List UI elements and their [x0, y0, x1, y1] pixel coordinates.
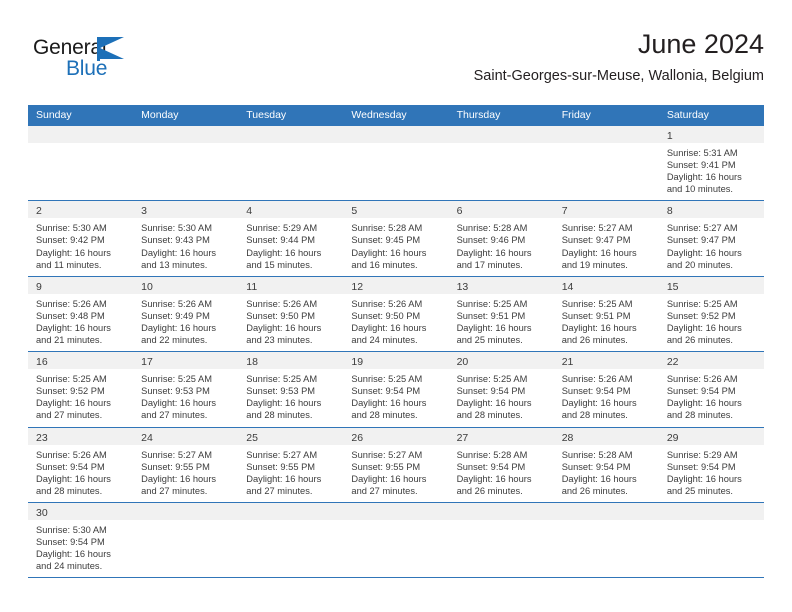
sunset-text: Sunset: 9:54 PM	[351, 385, 442, 397]
weekday-header-thursday: Thursday	[449, 105, 554, 126]
daylight-text-line2: and 15 minutes.	[246, 259, 337, 271]
sunrise-text: Sunrise: 5:28 AM	[562, 449, 653, 461]
daylight-text-line2: and 26 minutes.	[457, 485, 548, 497]
day-detail: Sunrise: 5:26 AMSunset: 9:50 PMDaylight:…	[238, 294, 343, 351]
day-cell-empty	[554, 126, 659, 200]
day-number-band: 13	[449, 277, 554, 294]
day-cell-empty	[343, 503, 448, 577]
sunset-text: Sunset: 9:55 PM	[141, 461, 232, 473]
day-detail: Sunrise: 5:26 AMSunset: 9:48 PMDaylight:…	[28, 294, 133, 351]
day-detail	[28, 143, 133, 199]
day-number: 3	[141, 205, 147, 217]
daylight-text-line1: Daylight: 16 hours	[667, 322, 758, 334]
day-cell-14[interactable]: 14Sunrise: 5:25 AMSunset: 9:51 PMDayligh…	[554, 277, 659, 351]
day-number-band: 27	[449, 428, 554, 445]
day-cell-empty	[238, 126, 343, 200]
daylight-text-line1: Daylight: 16 hours	[457, 247, 548, 259]
sunrise-text: Sunrise: 5:26 AM	[36, 298, 127, 310]
daylight-text-line2: and 25 minutes.	[457, 334, 548, 346]
day-number-band: 20	[449, 352, 554, 369]
day-detail	[343, 520, 448, 576]
sunrise-text: Sunrise: 5:30 AM	[36, 222, 127, 234]
day-number-band: 18	[238, 352, 343, 369]
day-cell-23[interactable]: 23Sunrise: 5:26 AMSunset: 9:54 PMDayligh…	[28, 428, 133, 502]
sunrise-text: Sunrise: 5:25 AM	[141, 373, 232, 385]
day-cell-empty	[554, 503, 659, 577]
day-detail: Sunrise: 5:28 AMSunset: 9:54 PMDaylight:…	[449, 445, 554, 502]
day-cell-empty	[343, 126, 448, 200]
day-number-band: 14	[554, 277, 659, 294]
day-cell-10[interactable]: 10Sunrise: 5:26 AMSunset: 9:49 PMDayligh…	[133, 277, 238, 351]
day-number: 2	[36, 205, 42, 217]
daylight-text-line1: Daylight: 16 hours	[36, 247, 127, 259]
day-detail: Sunrise: 5:25 AMSunset: 9:51 PMDaylight:…	[449, 294, 554, 351]
daylight-text-line1: Daylight: 16 hours	[36, 322, 127, 334]
day-detail	[554, 143, 659, 199]
sunrise-text: Sunrise: 5:26 AM	[351, 298, 442, 310]
day-number-band	[554, 126, 659, 143]
sunrise-text: Sunrise: 5:27 AM	[667, 222, 758, 234]
daylight-text-line1: Daylight: 16 hours	[667, 397, 758, 409]
day-number: 21	[562, 356, 574, 368]
day-number-band: 22	[659, 352, 764, 369]
calendar-page: General Blue June 2024 Saint-Georges-sur…	[0, 0, 792, 612]
daylight-text-line2: and 27 minutes.	[351, 485, 442, 497]
daylight-text-line2: and 20 minutes.	[667, 259, 758, 271]
sunset-text: Sunset: 9:55 PM	[246, 461, 337, 473]
day-number: 5	[351, 205, 357, 217]
daylight-text-line1: Daylight: 16 hours	[36, 473, 127, 485]
day-cell-12[interactable]: 12Sunrise: 5:26 AMSunset: 9:50 PMDayligh…	[343, 277, 448, 351]
day-cell-22[interactable]: 22Sunrise: 5:26 AMSunset: 9:54 PMDayligh…	[659, 352, 764, 426]
daylight-text-line2: and 28 minutes.	[351, 409, 442, 421]
sunrise-text: Sunrise: 5:26 AM	[562, 373, 653, 385]
day-number-band: 10	[133, 277, 238, 294]
daylight-text-line2: and 17 minutes.	[457, 259, 548, 271]
day-number: 22	[667, 356, 679, 368]
daylight-text-line2: and 16 minutes.	[351, 259, 442, 271]
daylight-text-line2: and 25 minutes.	[667, 485, 758, 497]
daylight-text-line1: Daylight: 16 hours	[562, 473, 653, 485]
day-cell-18[interactable]: 18Sunrise: 5:25 AMSunset: 9:53 PMDayligh…	[238, 352, 343, 426]
calendar-grid: SundayMondayTuesdayWednesdayThursdayFrid…	[28, 105, 764, 578]
day-number-band	[449, 503, 554, 520]
day-detail: Sunrise: 5:27 AMSunset: 9:55 PMDaylight:…	[343, 445, 448, 502]
sunrise-text: Sunrise: 5:26 AM	[141, 298, 232, 310]
daylight-text-line1: Daylight: 16 hours	[36, 397, 127, 409]
day-number-band: 24	[133, 428, 238, 445]
day-cell-empty	[449, 126, 554, 200]
sunset-text: Sunset: 9:54 PM	[562, 385, 653, 397]
day-detail	[659, 520, 764, 576]
day-number-band	[343, 126, 448, 143]
sunset-text: Sunset: 9:55 PM	[351, 461, 442, 473]
sunset-text: Sunset: 9:48 PM	[36, 310, 127, 322]
day-number-band: 19	[343, 352, 448, 369]
day-number-band	[343, 503, 448, 520]
sunset-text: Sunset: 9:47 PM	[667, 234, 758, 246]
day-number-band	[554, 503, 659, 520]
day-detail: Sunrise: 5:28 AMSunset: 9:45 PMDaylight:…	[343, 218, 448, 275]
sunrise-text: Sunrise: 5:27 AM	[141, 449, 232, 461]
day-detail	[133, 143, 238, 199]
day-number-band: 23	[28, 428, 133, 445]
day-detail	[133, 520, 238, 576]
sunset-text: Sunset: 9:54 PM	[667, 461, 758, 473]
daylight-text-line2: and 26 minutes.	[562, 485, 653, 497]
day-detail: Sunrise: 5:25 AMSunset: 9:53 PMDaylight:…	[238, 369, 343, 426]
sunset-text: Sunset: 9:46 PM	[457, 234, 548, 246]
day-number-band: 8	[659, 201, 764, 218]
daylight-text-line2: and 26 minutes.	[667, 334, 758, 346]
daylight-text-line1: Daylight: 16 hours	[457, 322, 548, 334]
daylight-text-line1: Daylight: 16 hours	[351, 322, 442, 334]
day-cell-7[interactable]: 7Sunrise: 5:27 AMSunset: 9:47 PMDaylight…	[554, 201, 659, 275]
day-detail: Sunrise: 5:25 AMSunset: 9:51 PMDaylight:…	[554, 294, 659, 351]
sunrise-text: Sunrise: 5:26 AM	[667, 373, 758, 385]
day-number-band: 15	[659, 277, 764, 294]
sunrise-text: Sunrise: 5:28 AM	[457, 449, 548, 461]
day-detail: Sunrise: 5:26 AMSunset: 9:49 PMDaylight:…	[133, 294, 238, 351]
day-cell-empty	[238, 503, 343, 577]
sunrise-text: Sunrise: 5:25 AM	[562, 298, 653, 310]
day-number: 13	[457, 281, 469, 293]
day-number-band: 3	[133, 201, 238, 218]
sunset-text: Sunset: 9:52 PM	[667, 310, 758, 322]
day-cell-2[interactable]: 2Sunrise: 5:30 AMSunset: 9:42 PMDaylight…	[28, 201, 133, 275]
sunrise-text: Sunrise: 5:25 AM	[36, 373, 127, 385]
day-detail: Sunrise: 5:27 AMSunset: 9:47 PMDaylight:…	[554, 218, 659, 275]
day-number: 14	[562, 281, 574, 293]
daylight-text-line2: and 24 minutes.	[351, 334, 442, 346]
day-number: 30	[36, 507, 48, 519]
sunset-text: Sunset: 9:45 PM	[351, 234, 442, 246]
sunset-text: Sunset: 9:54 PM	[457, 385, 548, 397]
day-detail: Sunrise: 5:28 AMSunset: 9:46 PMDaylight:…	[449, 218, 554, 275]
daylight-text-line1: Daylight: 16 hours	[667, 247, 758, 259]
sunset-text: Sunset: 9:52 PM	[36, 385, 127, 397]
day-detail: Sunrise: 5:25 AMSunset: 9:54 PMDaylight:…	[449, 369, 554, 426]
day-detail: Sunrise: 5:29 AMSunset: 9:44 PMDaylight:…	[238, 218, 343, 275]
page-subtitle: Saint-Georges-sur-Meuse, Wallonia, Belgi…	[474, 66, 764, 86]
sunrise-text: Sunrise: 5:31 AM	[667, 147, 758, 159]
sunrise-text: Sunrise: 5:27 AM	[246, 449, 337, 461]
sunset-text: Sunset: 9:51 PM	[457, 310, 548, 322]
daylight-text-line1: Daylight: 16 hours	[246, 473, 337, 485]
day-cell-27[interactable]: 27Sunrise: 5:28 AMSunset: 9:54 PMDayligh…	[449, 428, 554, 502]
day-number-band: 4	[238, 201, 343, 218]
daylight-text-line1: Daylight: 16 hours	[246, 397, 337, 409]
daylight-text-line1: Daylight: 16 hours	[246, 322, 337, 334]
sunset-text: Sunset: 9:54 PM	[36, 461, 127, 473]
page-title: June 2024	[474, 28, 764, 60]
daylight-text-line2: and 24 minutes.	[36, 560, 127, 572]
daylight-text-line2: and 27 minutes.	[246, 485, 337, 497]
daylight-text-line2: and 22 minutes.	[141, 334, 232, 346]
weekday-header-wednesday: Wednesday	[343, 105, 448, 126]
day-number-band	[238, 503, 343, 520]
day-cell-17[interactable]: 17Sunrise: 5:25 AMSunset: 9:53 PMDayligh…	[133, 352, 238, 426]
sunrise-text: Sunrise: 5:27 AM	[562, 222, 653, 234]
daylight-text-line1: Daylight: 16 hours	[141, 397, 232, 409]
day-number: 20	[457, 356, 469, 368]
sunset-text: Sunset: 9:54 PM	[36, 536, 127, 548]
sunrise-text: Sunrise: 5:25 AM	[667, 298, 758, 310]
sunset-text: Sunset: 9:44 PM	[246, 234, 337, 246]
sunrise-text: Sunrise: 5:29 AM	[667, 449, 758, 461]
day-detail: Sunrise: 5:30 AMSunset: 9:54 PMDaylight:…	[28, 520, 133, 577]
day-number-band: 16	[28, 352, 133, 369]
daylight-text-line1: Daylight: 16 hours	[351, 247, 442, 259]
daylight-text-line1: Daylight: 16 hours	[667, 473, 758, 485]
day-cell-empty	[133, 503, 238, 577]
daylight-text-line1: Daylight: 16 hours	[351, 397, 442, 409]
sunrise-text: Sunrise: 5:26 AM	[246, 298, 337, 310]
day-number-band	[28, 126, 133, 143]
day-number-band: 7	[554, 201, 659, 218]
daylight-text-line1: Daylight: 16 hours	[457, 397, 548, 409]
daylight-text-line2: and 28 minutes.	[562, 409, 653, 421]
day-number: 11	[246, 281, 257, 293]
day-cell-9[interactable]: 9Sunrise: 5:26 AMSunset: 9:48 PMDaylight…	[28, 277, 133, 351]
sunset-text: Sunset: 9:47 PM	[562, 234, 653, 246]
day-number-band	[449, 126, 554, 143]
day-cell-21[interactable]: 21Sunrise: 5:26 AMSunset: 9:54 PMDayligh…	[554, 352, 659, 426]
sunrise-text: Sunrise: 5:28 AM	[351, 222, 442, 234]
daylight-text-line1: Daylight: 16 hours	[141, 322, 232, 334]
day-number-band: 9	[28, 277, 133, 294]
daylight-text-line1: Daylight: 16 hours	[141, 247, 232, 259]
day-cell-13[interactable]: 13Sunrise: 5:25 AMSunset: 9:51 PMDayligh…	[449, 277, 554, 351]
calendar-week-row: 30Sunrise: 5:30 AMSunset: 9:54 PMDayligh…	[28, 503, 764, 578]
day-cell-19[interactable]: 19Sunrise: 5:25 AMSunset: 9:54 PMDayligh…	[343, 352, 448, 426]
day-number-band	[238, 126, 343, 143]
day-cell-20[interactable]: 20Sunrise: 5:25 AMSunset: 9:54 PMDayligh…	[449, 352, 554, 426]
calendar-week-row: 23Sunrise: 5:26 AMSunset: 9:54 PMDayligh…	[28, 428, 764, 503]
sunrise-text: Sunrise: 5:25 AM	[351, 373, 442, 385]
daylight-text-line1: Daylight: 16 hours	[562, 397, 653, 409]
day-cell-30[interactable]: 30Sunrise: 5:30 AMSunset: 9:54 PMDayligh…	[28, 503, 133, 577]
day-number: 12	[351, 281, 363, 293]
daylight-text-line2: and 27 minutes.	[141, 485, 232, 497]
day-number-band: 12	[343, 277, 448, 294]
day-detail: Sunrise: 5:27 AMSunset: 9:55 PMDaylight:…	[133, 445, 238, 502]
day-detail	[343, 143, 448, 199]
day-detail: Sunrise: 5:25 AMSunset: 9:52 PMDaylight:…	[659, 294, 764, 351]
general-blue-logo[interactable]: General Blue	[33, 36, 173, 88]
daylight-text-line2: and 28 minutes.	[457, 409, 548, 421]
day-number: 18	[246, 356, 258, 368]
daylight-text-line1: Daylight: 16 hours	[457, 473, 548, 485]
sunrise-text: Sunrise: 5:30 AM	[141, 222, 232, 234]
day-number-band: 21	[554, 352, 659, 369]
title-block: June 2024 Saint-Georges-sur-Meuse, Wallo…	[474, 28, 764, 86]
day-detail	[238, 520, 343, 576]
daylight-text-line1: Daylight: 16 hours	[246, 247, 337, 259]
day-detail: Sunrise: 5:25 AMSunset: 9:53 PMDaylight:…	[133, 369, 238, 426]
day-cell-11[interactable]: 11Sunrise: 5:26 AMSunset: 9:50 PMDayligh…	[238, 277, 343, 351]
day-detail: Sunrise: 5:26 AMSunset: 9:54 PMDaylight:…	[659, 369, 764, 426]
daylight-text-line2: and 10 minutes.	[667, 183, 758, 195]
sunset-text: Sunset: 9:53 PM	[246, 385, 337, 397]
sunrise-text: Sunrise: 5:25 AM	[246, 373, 337, 385]
daylight-text-line2: and 13 minutes.	[141, 259, 232, 271]
daylight-text-line2: and 27 minutes.	[141, 409, 232, 421]
day-number-band: 11	[238, 277, 343, 294]
daylight-text-line1: Daylight: 16 hours	[36, 548, 127, 560]
sunset-text: Sunset: 9:50 PM	[246, 310, 337, 322]
day-number: 24	[141, 432, 153, 444]
daylight-text-line2: and 23 minutes.	[246, 334, 337, 346]
day-cell-1[interactable]: 1Sunrise: 5:31 AMSunset: 9:41 PMDaylight…	[659, 126, 764, 200]
day-number: 23	[36, 432, 48, 444]
day-number: 19	[351, 356, 363, 368]
daylight-text-line2: and 28 minutes.	[246, 409, 337, 421]
day-number-band: 29	[659, 428, 764, 445]
day-detail: Sunrise: 5:27 AMSunset: 9:47 PMDaylight:…	[659, 218, 764, 275]
day-detail: Sunrise: 5:26 AMSunset: 9:50 PMDaylight:…	[343, 294, 448, 351]
day-number-band: 1	[659, 126, 764, 143]
sunset-text: Sunset: 9:54 PM	[562, 461, 653, 473]
day-cell-15[interactable]: 15Sunrise: 5:25 AMSunset: 9:52 PMDayligh…	[659, 277, 764, 351]
sunrise-text: Sunrise: 5:26 AM	[36, 449, 127, 461]
day-cell-empty	[449, 503, 554, 577]
day-number: 29	[667, 432, 679, 444]
day-number-band: 17	[133, 352, 238, 369]
sunrise-text: Sunrise: 5:25 AM	[457, 298, 548, 310]
day-cell-3[interactable]: 3Sunrise: 5:30 AMSunset: 9:43 PMDaylight…	[133, 201, 238, 275]
day-number: 26	[351, 432, 363, 444]
day-number-band: 5	[343, 201, 448, 218]
calendar-week-row: 9Sunrise: 5:26 AMSunset: 9:48 PMDaylight…	[28, 277, 764, 352]
day-number: 7	[562, 205, 568, 217]
weekday-header-friday: Friday	[554, 105, 659, 126]
day-number: 28	[562, 432, 574, 444]
sunset-text: Sunset: 9:42 PM	[36, 234, 127, 246]
day-number: 27	[457, 432, 469, 444]
day-detail: Sunrise: 5:26 AMSunset: 9:54 PMDaylight:…	[28, 445, 133, 502]
day-cell-25[interactable]: 25Sunrise: 5:27 AMSunset: 9:55 PMDayligh…	[238, 428, 343, 502]
sunrise-text: Sunrise: 5:25 AM	[457, 373, 548, 385]
day-number: 4	[246, 205, 252, 217]
calendar-week-row: 2Sunrise: 5:30 AMSunset: 9:42 PMDaylight…	[28, 201, 764, 276]
day-cell-28[interactable]: 28Sunrise: 5:28 AMSunset: 9:54 PMDayligh…	[554, 428, 659, 502]
weekday-header-saturday: Saturday	[659, 105, 764, 126]
sunset-text: Sunset: 9:49 PM	[141, 310, 232, 322]
logo-text-blue: Blue	[66, 57, 107, 81]
day-detail: Sunrise: 5:26 AMSunset: 9:54 PMDaylight:…	[554, 369, 659, 426]
day-number: 6	[457, 205, 463, 217]
day-number-band	[659, 503, 764, 520]
day-cell-24[interactable]: 24Sunrise: 5:27 AMSunset: 9:55 PMDayligh…	[133, 428, 238, 502]
daylight-text-line1: Daylight: 16 hours	[351, 473, 442, 485]
sunset-text: Sunset: 9:51 PM	[562, 310, 653, 322]
sunrise-text: Sunrise: 5:30 AM	[36, 524, 127, 536]
day-number-band: 26	[343, 428, 448, 445]
daylight-text-line2: and 21 minutes.	[36, 334, 127, 346]
day-detail	[449, 520, 554, 576]
sunset-text: Sunset: 9:53 PM	[141, 385, 232, 397]
weekday-header-monday: Monday	[133, 105, 238, 126]
day-detail: Sunrise: 5:30 AMSunset: 9:43 PMDaylight:…	[133, 218, 238, 275]
sunset-text: Sunset: 9:54 PM	[667, 385, 758, 397]
daylight-text-line1: Daylight: 16 hours	[141, 473, 232, 485]
day-number-band: 6	[449, 201, 554, 218]
day-number: 8	[667, 205, 673, 217]
daylight-text-line1: Daylight: 16 hours	[667, 171, 758, 183]
day-number: 1	[667, 130, 673, 142]
day-number: 9	[36, 281, 42, 293]
weekday-header-row: SundayMondayTuesdayWednesdayThursdayFrid…	[28, 105, 764, 126]
day-cell-6[interactable]: 6Sunrise: 5:28 AMSunset: 9:46 PMDaylight…	[449, 201, 554, 275]
day-cell-4[interactable]: 4Sunrise: 5:29 AMSunset: 9:44 PMDaylight…	[238, 201, 343, 275]
daylight-text-line1: Daylight: 16 hours	[562, 322, 653, 334]
day-number-band	[133, 503, 238, 520]
day-detail	[238, 143, 343, 199]
calendar-week-row: 1Sunrise: 5:31 AMSunset: 9:41 PMDaylight…	[28, 126, 764, 201]
sunset-text: Sunset: 9:50 PM	[351, 310, 442, 322]
day-cell-empty	[28, 126, 133, 200]
day-number: 15	[667, 281, 679, 293]
day-number: 25	[246, 432, 258, 444]
day-number: 10	[141, 281, 153, 293]
calendar-weeks: 1Sunrise: 5:31 AMSunset: 9:41 PMDaylight…	[28, 126, 764, 578]
sunrise-text: Sunrise: 5:27 AM	[351, 449, 442, 461]
day-number-band	[133, 126, 238, 143]
day-detail: Sunrise: 5:29 AMSunset: 9:54 PMDaylight:…	[659, 445, 764, 502]
daylight-text-line2: and 19 minutes.	[562, 259, 653, 271]
day-number-band: 30	[28, 503, 133, 520]
day-number: 17	[141, 356, 153, 368]
day-detail: Sunrise: 5:31 AMSunset: 9:41 PMDaylight:…	[659, 143, 764, 200]
calendar-week-row: 16Sunrise: 5:25 AMSunset: 9:52 PMDayligh…	[28, 352, 764, 427]
page-header: General Blue June 2024 Saint-Georges-sur…	[28, 28, 764, 94]
day-detail: Sunrise: 5:30 AMSunset: 9:42 PMDaylight:…	[28, 218, 133, 275]
day-cell-29[interactable]: 29Sunrise: 5:29 AMSunset: 9:54 PMDayligh…	[659, 428, 764, 502]
daylight-text-line2: and 27 minutes.	[36, 409, 127, 421]
day-cell-16[interactable]: 16Sunrise: 5:25 AMSunset: 9:52 PMDayligh…	[28, 352, 133, 426]
day-cell-empty	[659, 503, 764, 577]
day-cell-5[interactable]: 5Sunrise: 5:28 AMSunset: 9:45 PMDaylight…	[343, 201, 448, 275]
daylight-text-line2: and 26 minutes.	[562, 334, 653, 346]
sunrise-text: Sunrise: 5:29 AM	[246, 222, 337, 234]
day-detail: Sunrise: 5:28 AMSunset: 9:54 PMDaylight:…	[554, 445, 659, 502]
day-cell-8[interactable]: 8Sunrise: 5:27 AMSunset: 9:47 PMDaylight…	[659, 201, 764, 275]
daylight-text-line2: and 11 minutes.	[36, 259, 127, 271]
day-detail: Sunrise: 5:25 AMSunset: 9:54 PMDaylight:…	[343, 369, 448, 426]
sunrise-text: Sunrise: 5:28 AM	[457, 222, 548, 234]
day-number-band: 28	[554, 428, 659, 445]
weekday-header-sunday: Sunday	[28, 105, 133, 126]
daylight-text-line1: Daylight: 16 hours	[562, 247, 653, 259]
daylight-text-line2: and 28 minutes.	[667, 409, 758, 421]
daylight-text-line2: and 28 minutes.	[36, 485, 127, 497]
weekday-header-tuesday: Tuesday	[238, 105, 343, 126]
day-cell-empty	[133, 126, 238, 200]
day-number-band: 2	[28, 201, 133, 218]
sunset-text: Sunset: 9:41 PM	[667, 159, 758, 171]
day-detail	[554, 520, 659, 576]
day-detail: Sunrise: 5:27 AMSunset: 9:55 PMDaylight:…	[238, 445, 343, 502]
day-number: 16	[36, 356, 48, 368]
day-detail: Sunrise: 5:25 AMSunset: 9:52 PMDaylight:…	[28, 369, 133, 426]
day-detail	[449, 143, 554, 199]
sunset-text: Sunset: 9:54 PM	[457, 461, 548, 473]
logo-flag-icon	[100, 37, 124, 59]
day-cell-26[interactable]: 26Sunrise: 5:27 AMSunset: 9:55 PMDayligh…	[343, 428, 448, 502]
day-number-band: 25	[238, 428, 343, 445]
sunset-text: Sunset: 9:43 PM	[141, 234, 232, 246]
